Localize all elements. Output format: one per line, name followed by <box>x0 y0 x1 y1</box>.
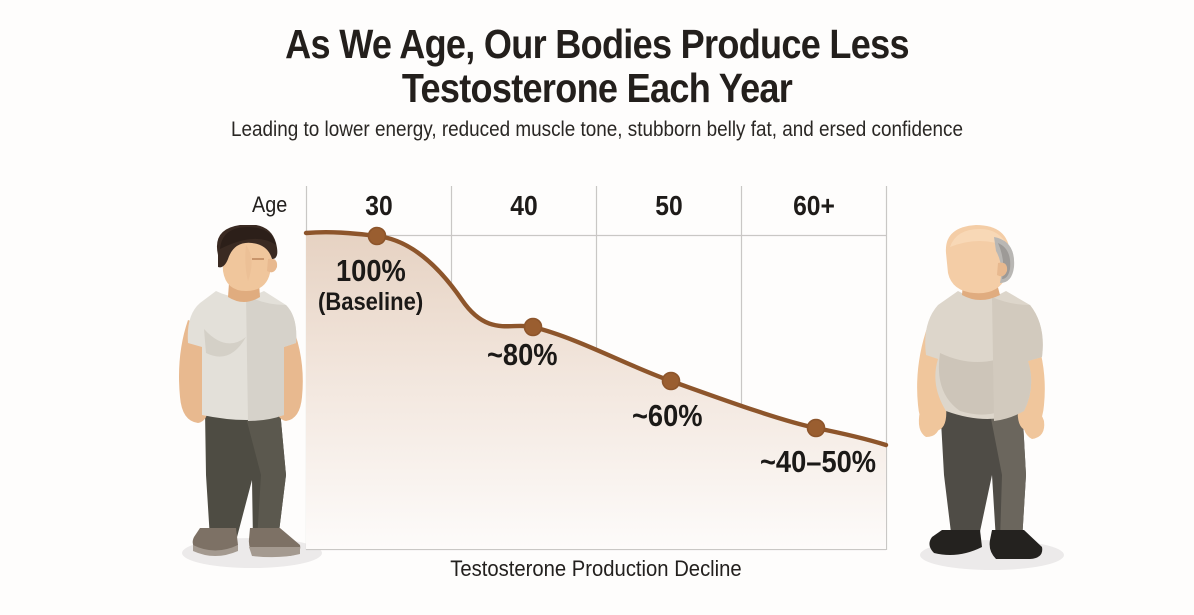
age-tick-50: 50 <box>605 190 733 222</box>
label-baseline: (Baseline) <box>318 288 423 317</box>
age-tick-40: 40 <box>460 190 588 222</box>
data-point-age-30[interactable] <box>369 228 386 245</box>
data-point-age-40[interactable] <box>525 319 542 336</box>
data-point-age-60[interactable] <box>808 420 825 437</box>
label-80-percent: ~80% <box>487 339 558 370</box>
label-60-percent: ~60% <box>632 400 703 431</box>
label-40-50-percent: ~40–50% <box>760 446 876 477</box>
age-axis-label: Age <box>252 192 287 218</box>
testosterone-decline-chart <box>0 0 1194 615</box>
label-100-percent: 100% <box>336 255 406 286</box>
age-tick-60: 60+ <box>750 190 878 222</box>
infographic-page: As We Age, Our Bodies Produce Less Testo… <box>0 0 1194 615</box>
chart-caption: Testosterone Production Decline <box>329 556 863 582</box>
age-tick-30: 30 <box>315 190 443 222</box>
data-point-age-50[interactable] <box>663 373 680 390</box>
